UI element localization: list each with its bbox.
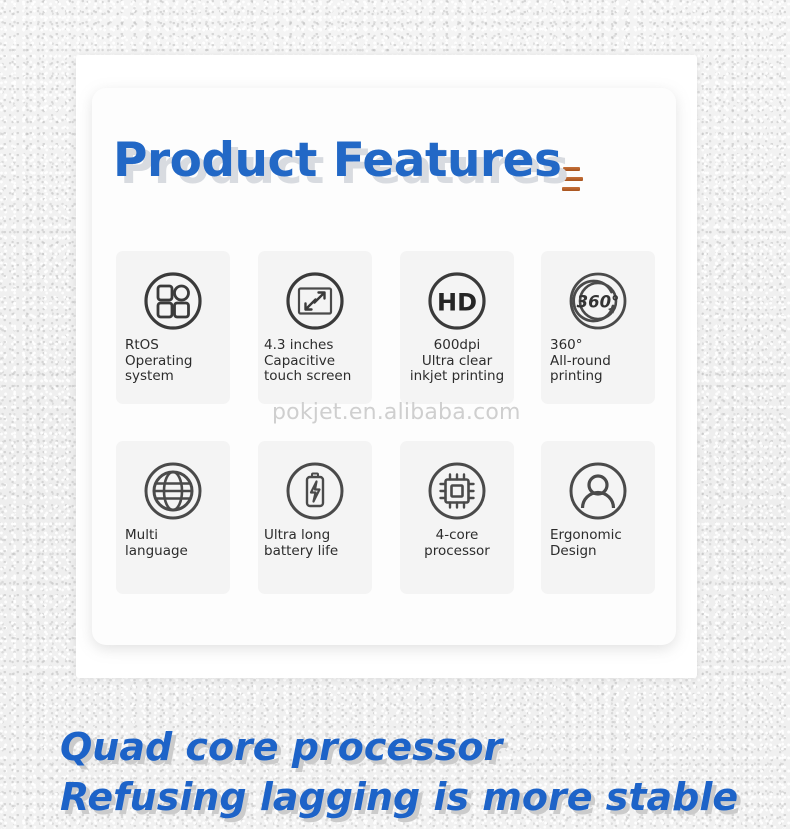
- feature-card-multi-language[interactable]: Multi language: [116, 441, 230, 594]
- feature-card-touch-screen[interactable]: 4.3 inches Capacitive touch screen: [258, 251, 372, 404]
- feature-card-4-core-processor[interactable]: 4-core processor: [400, 441, 514, 594]
- slogan-line-1-text: Quad core processor: [60, 722, 502, 772]
- feature-card-hd-printing[interactable]: HD 600dpi Ultra clear inkjet printing: [400, 251, 514, 404]
- person-icon: [541, 454, 655, 528]
- page-title-row: Product Features Product Features: [113, 133, 603, 201]
- feature-label: Ergonomic Design: [541, 528, 655, 559]
- feature-label: 4.3 inches Capacitive touch screen: [258, 338, 372, 385]
- slogan-line-2: Refusing lagging is more stable Refusing…: [60, 772, 760, 822]
- feature-label: 4-core processor: [400, 528, 514, 559]
- svg-text:HD: HD: [437, 289, 477, 317]
- slogan-line-2-text: Refusing lagging is more stable: [60, 772, 738, 822]
- cpu-chip-icon: [400, 454, 514, 528]
- page-title: Product Features Product Features: [113, 133, 561, 189]
- feature-card-360-printing[interactable]: 360° 360° All-round printing: [541, 251, 655, 404]
- 360-rotation-icon: 360°: [541, 264, 655, 338]
- globe-icon: [116, 454, 230, 528]
- page-title-text: Product Features: [113, 133, 561, 188]
- feature-card-ergonomic-design[interactable]: Ergonomic Design: [541, 441, 655, 594]
- feature-card-battery-life[interactable]: Ultra long battery life: [258, 441, 372, 594]
- poster-page: Product Features Product Features RtOS O…: [0, 0, 790, 829]
- feature-label: 600dpi Ultra clear inkjet printing: [400, 338, 514, 385]
- hd-icon: HD: [400, 264, 514, 338]
- app-grid-icon: [116, 264, 230, 338]
- slogan-line-1: Quad core processor Quad core processor: [60, 722, 760, 772]
- bottom-slogan: Quad core processor Quad core processor …: [60, 722, 760, 822]
- feature-card-rtos[interactable]: RtOS Operating system: [116, 251, 230, 404]
- feature-label: RtOS Operating system: [116, 338, 230, 385]
- feature-label: Multi language: [116, 528, 230, 559]
- screen-expand-icon: [258, 264, 372, 338]
- watermark-text: pokjet.en.alibaba.com: [272, 400, 521, 425]
- feature-label: Ultra long battery life: [258, 528, 372, 559]
- battery-bolt-icon: [258, 454, 372, 528]
- svg-text:360°: 360°: [577, 293, 620, 312]
- feature-label: 360° All-round printing: [541, 338, 655, 385]
